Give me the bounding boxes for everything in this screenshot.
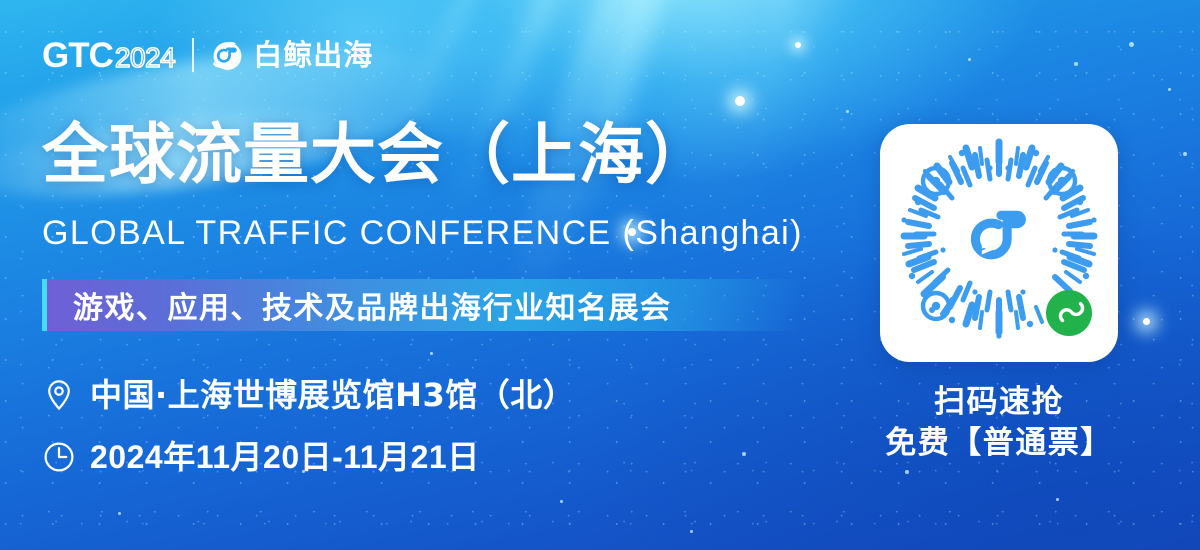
- qr-code-card[interactable]: [880, 124, 1118, 362]
- gtc-logo-year: 2024: [115, 44, 175, 72]
- brand-logo-row: GTC 2024 白鲸出海: [42, 32, 373, 78]
- date-text: 2024年11月20日-11月21日: [90, 441, 480, 473]
- letter-g-logo-icon: [956, 200, 1042, 286]
- venue-row: 中国·上海世博展览馆H3馆（北）: [42, 378, 575, 412]
- page-title: 全球流量大会（上海）: [42, 118, 712, 192]
- event-banner: GTC 2024 白鲸出海 全球流量大会（上海） GLOBAL TRAFFIC …: [0, 0, 1200, 550]
- tagline-bar: 游戏、应用、技术及品牌出海行业知名展会: [47, 279, 803, 331]
- page-subtitle: GLOBAL TRAFFIC CONFERENCE (Shanghai): [42, 216, 803, 250]
- qr-caption: 扫码速抢 免费【普通票】: [862, 382, 1136, 464]
- gtc-logo: GTC 2024: [42, 38, 175, 73]
- venue-text: 中国·上海世博展览馆H3馆（北）: [90, 379, 575, 411]
- whale-g-logo-icon: [211, 39, 244, 72]
- wechat-miniprogram-qr-code[interactable]: [880, 124, 1118, 362]
- clock-icon: [42, 440, 76, 474]
- baijing-brand-logo: 白鲸出海: [211, 39, 373, 72]
- tagline-text: 游戏、应用、技术及品牌出海行业知名展会: [47, 283, 672, 327]
- logo-divider: [192, 38, 194, 72]
- location-pin-icon: [42, 378, 76, 412]
- tagline-banner: 游戏、应用、技术及品牌出海行业知名展会: [42, 279, 803, 331]
- date-row: 2024年11月20日-11月21日: [42, 440, 480, 474]
- brand-name-text: 白鲸出海: [253, 41, 373, 70]
- wechat-miniprogram-badge-icon: [1046, 290, 1092, 336]
- qr-caption-line-1: 扫码速抢: [862, 382, 1136, 423]
- gtc-logo-text: GTC: [42, 38, 113, 73]
- qr-caption-line-2: 免费【普通票】: [862, 423, 1136, 464]
